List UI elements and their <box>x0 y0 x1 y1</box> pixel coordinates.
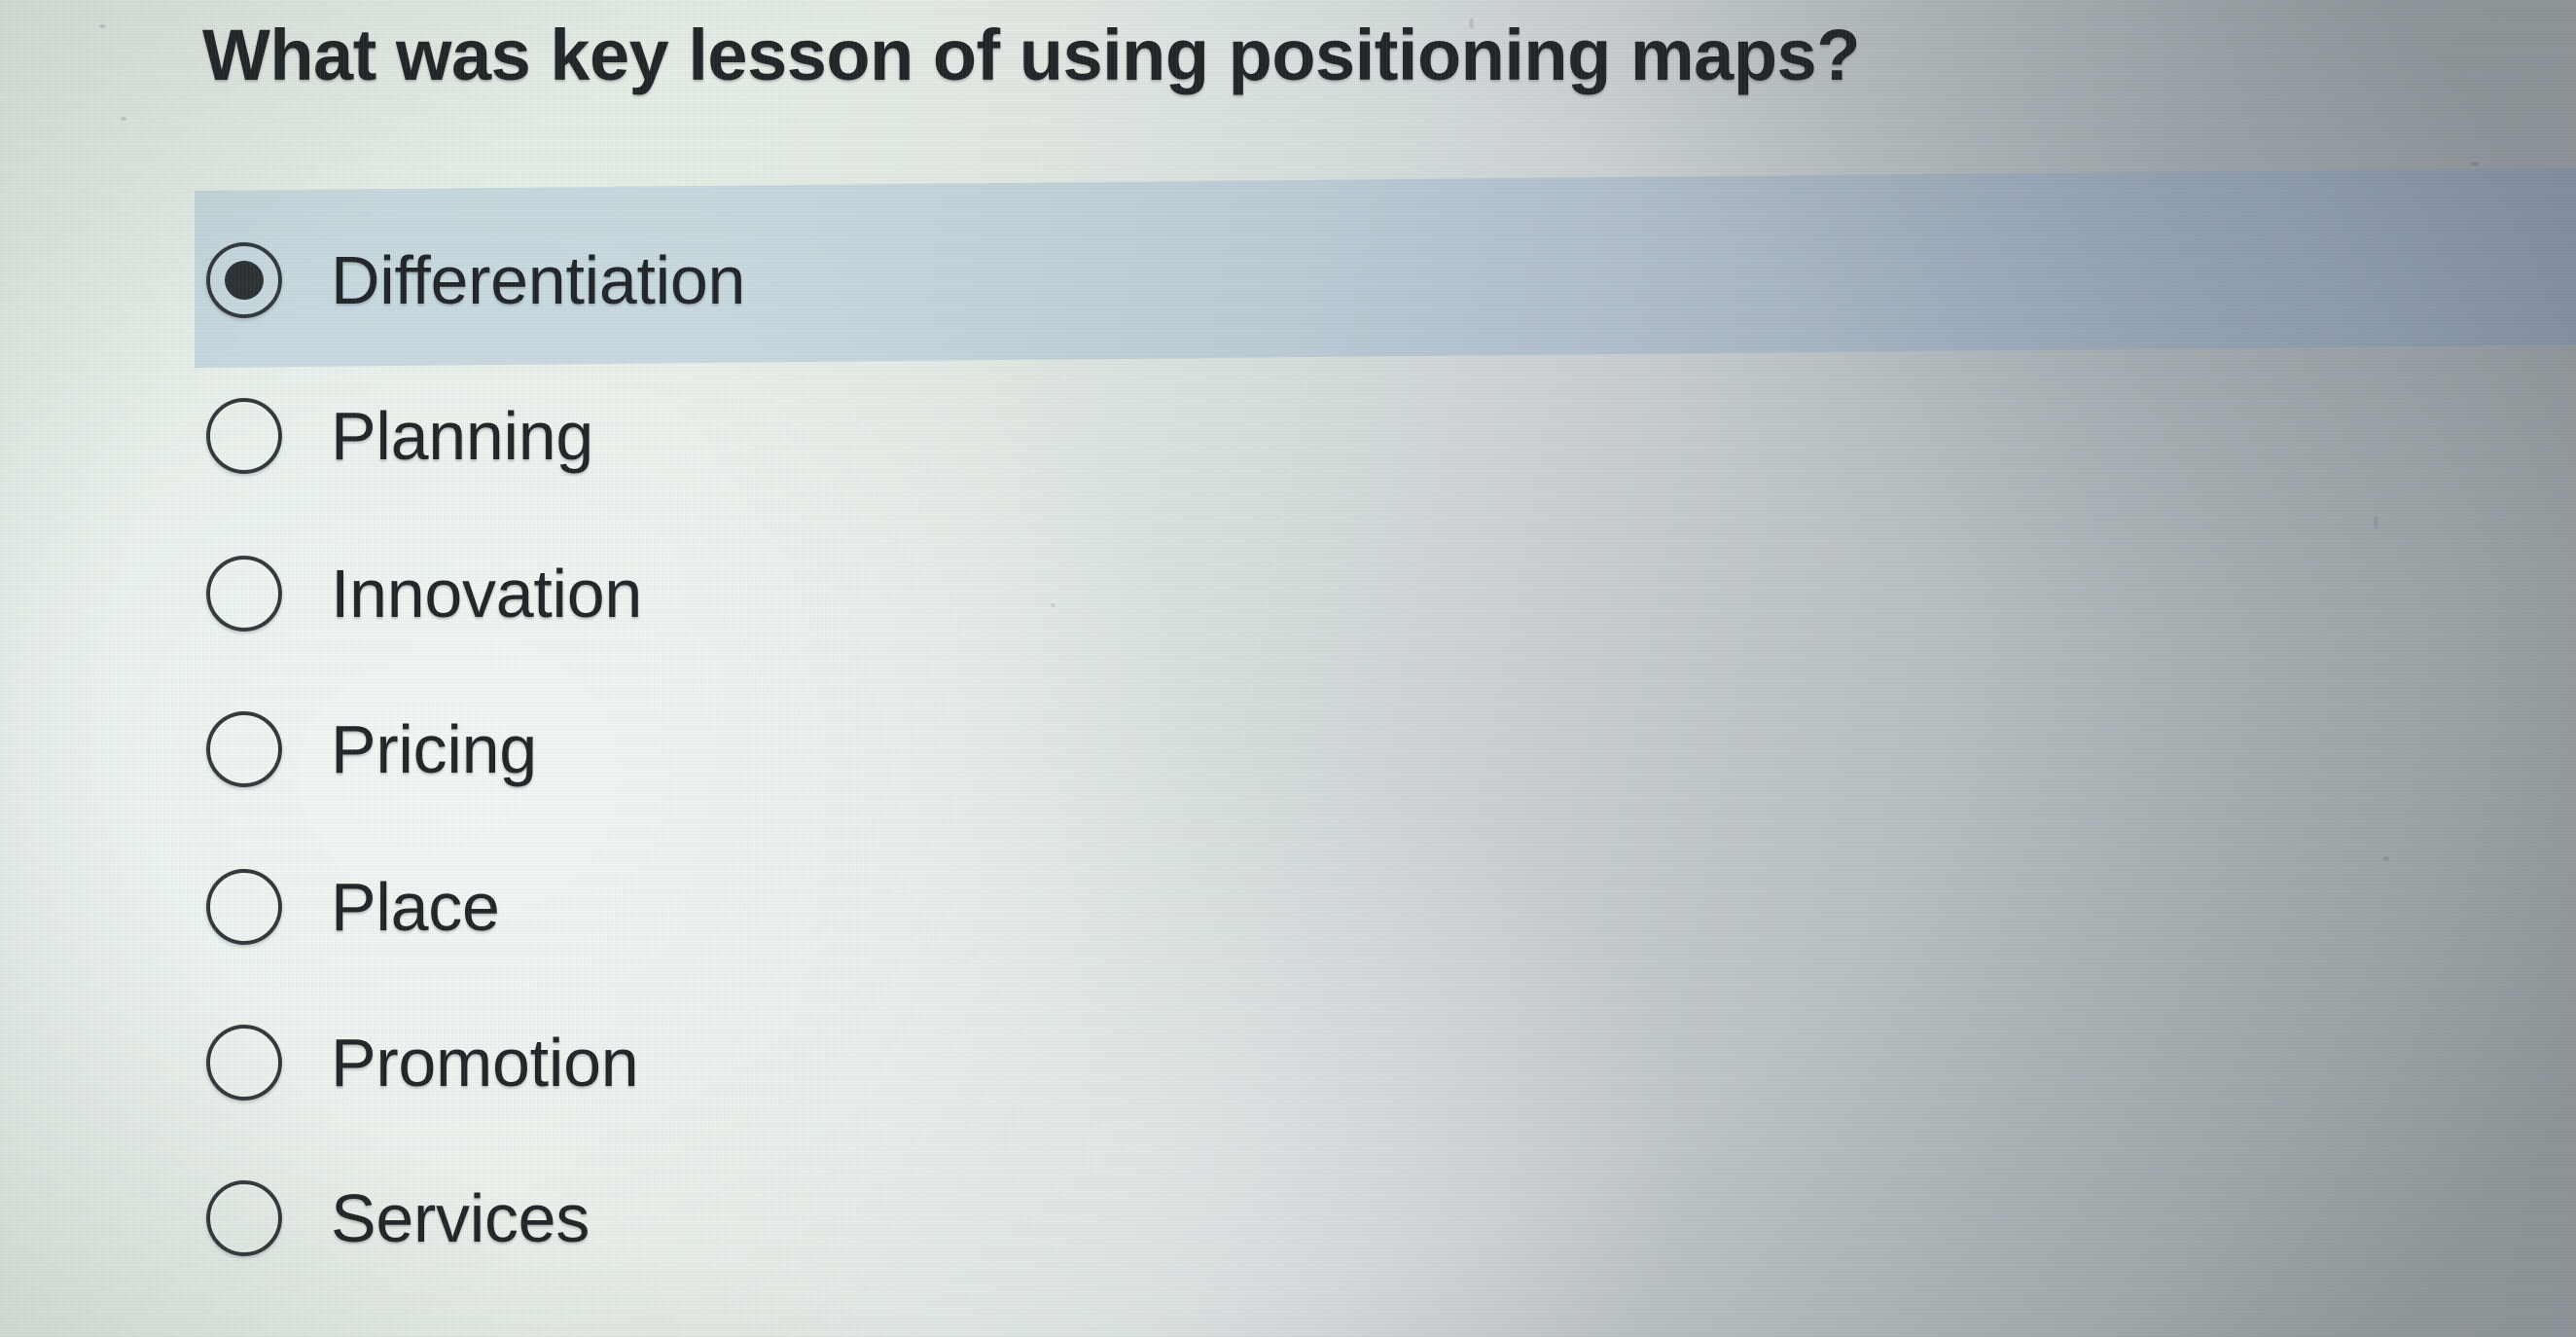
answer-option-label: Promotion <box>331 1024 638 1102</box>
answer-option-innovation[interactable]: Innovation <box>206 545 642 642</box>
answer-option-promotion[interactable]: Promotion <box>206 1014 638 1111</box>
radio-unchecked-icon[interactable] <box>206 556 282 632</box>
answer-option-label: Place <box>331 868 500 946</box>
radio-unchecked-icon[interactable] <box>206 398 282 474</box>
answer-option-label: Services <box>331 1179 590 1257</box>
answer-option-label: Pricing <box>331 710 537 788</box>
radio-unchecked-icon[interactable] <box>206 1025 282 1101</box>
radio-unchecked-icon[interactable] <box>206 711 282 787</box>
answer-option-services[interactable]: Services <box>206 1170 590 1267</box>
radio-unchecked-icon[interactable] <box>206 869 282 945</box>
answer-option-pricing[interactable]: Pricing <box>206 701 537 798</box>
radio-unchecked-icon[interactable] <box>206 1180 282 1256</box>
answer-option-planning[interactable]: Planning <box>206 387 593 485</box>
radio-checked-icon[interactable] <box>206 242 282 318</box>
question-title: What was key lesson of using positioning… <box>202 14 1860 96</box>
answer-option-differentiation[interactable]: Differentiation <box>206 232 745 329</box>
answer-option-place[interactable]: Place <box>206 858 500 956</box>
answer-option-label: Innovation <box>331 555 642 632</box>
quiz-content: What was key lesson of using positioning… <box>0 0 2576 1337</box>
quiz-screen-photo: What was key lesson of using positioning… <box>0 0 2576 1337</box>
answer-option-label: Planning <box>331 397 593 475</box>
answer-option-label: Differentiation <box>331 241 745 319</box>
